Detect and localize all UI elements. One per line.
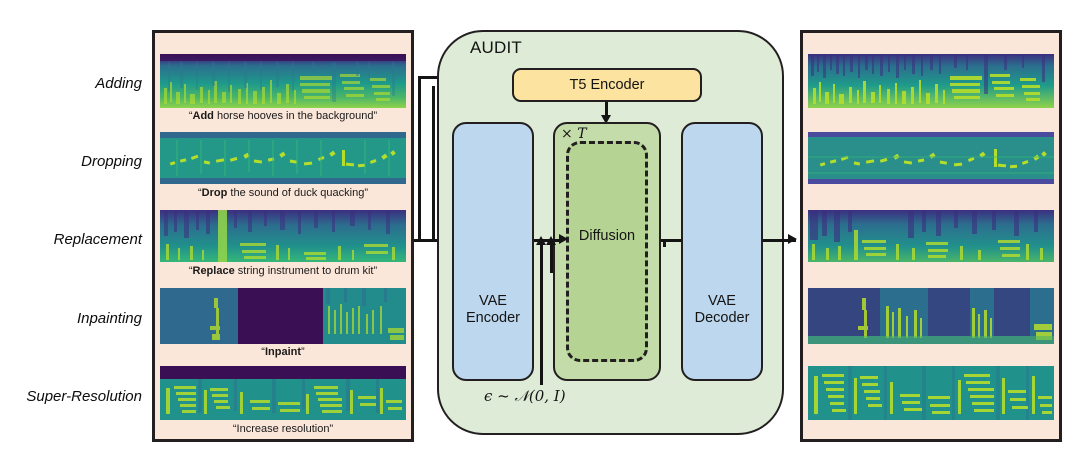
vae-decoder-block[interactable]: VAE Decoder <box>681 122 763 381</box>
replacement-caption-keyword: Replace <box>193 265 235 277</box>
inpainting-input-spectrogram <box>160 288 406 344</box>
adding-caption-rest: horse hooves in the background <box>214 110 374 122</box>
t5-encoder-block[interactable]: T5 Encoder <box>512 68 702 102</box>
quote-close: ” <box>364 187 368 199</box>
noise-arrowhead-1 <box>536 236 546 245</box>
input-split-vertical <box>418 76 421 241</box>
audit-title: AUDIT <box>470 38 522 58</box>
super-resolution-input-spectrogram <box>160 366 406 420</box>
row-label-super-resolution: Super-Resolution <box>0 388 142 405</box>
replacement-caption-rest: string instrument to drum kit <box>235 265 374 277</box>
noise-line-1 <box>540 243 543 385</box>
replacement-input-spectrogram <box>160 210 406 262</box>
vae-encoder-line2: Encoder <box>466 310 520 326</box>
dropping-caption-rest: the sound of duck quacking <box>227 187 364 199</box>
super-resolution-output-spectrogram <box>808 366 1054 420</box>
row-label-dropping: Dropping <box>0 153 142 170</box>
quote-close: ” <box>329 423 333 435</box>
row-label-inpainting: Inpainting <box>0 310 142 327</box>
noise-line-2 <box>550 243 553 273</box>
dropping-caption: “Drop the sound of duck quacking” <box>160 187 406 199</box>
dropping-caption-keyword: Drop <box>202 187 228 199</box>
adding-input-spectrogram <box>160 54 406 108</box>
diffusion-repeat-label: × T <box>561 126 587 142</box>
adding-caption-keyword: Add <box>193 110 214 122</box>
quote-close: ” <box>373 265 377 277</box>
dropping-input-spectrogram <box>160 132 406 184</box>
t5-encoder-label: T5 Encoder <box>570 77 645 93</box>
noise-arrowhead-2 <box>546 236 556 245</box>
vae-decoder-label: VAE Decoder <box>695 293 750 379</box>
quote-close: ” <box>374 110 378 122</box>
vae-encoder-line1: VAE <box>479 293 507 309</box>
decoder-to-output-arrowhead <box>788 234 797 244</box>
diffusion-label: Diffusion <box>553 228 661 244</box>
super-resolution-caption: “Increase resolution” <box>160 423 406 435</box>
replacement-output-spectrogram <box>808 210 1054 262</box>
input-split-vertical-2 <box>432 86 435 239</box>
vae-encoder-block[interactable]: VAE Encoder <box>452 122 534 381</box>
dropping-output-spectrogram <box>808 132 1054 184</box>
vae-to-diffusion-arrowhead <box>559 234 568 244</box>
noise-formula: ϵ ~ 𝒩(0, I) <box>484 387 566 405</box>
diffusion-loop-stub <box>663 239 666 247</box>
diffusion-inner-dashed-block <box>566 141 648 362</box>
vae-decoder-line1: VAE <box>708 293 736 309</box>
adding-caption: “Add horse hooves in the background” <box>160 110 406 122</box>
audit-architecture-figure: Adding Dropping Replacement Inpainting S… <box>0 0 1080 467</box>
adding-output-spectrogram <box>808 54 1054 108</box>
inpainting-caption-keyword: Inpaint <box>265 346 301 358</box>
replacement-caption: “Replace string instrument to drum kit” <box>160 265 406 277</box>
vae-encoder-label: VAE Encoder <box>466 293 520 379</box>
vae-decoder-line2: Decoder <box>695 310 750 326</box>
super-resolution-caption-rest: Increase resolution <box>237 423 330 435</box>
row-label-adding: Adding <box>0 75 142 92</box>
row-label-replacement: Replacement <box>0 231 142 248</box>
quote-close: ” <box>301 346 305 358</box>
inpainting-caption: “Inpaint” <box>160 346 406 358</box>
inpainting-output-spectrogram <box>808 288 1054 344</box>
